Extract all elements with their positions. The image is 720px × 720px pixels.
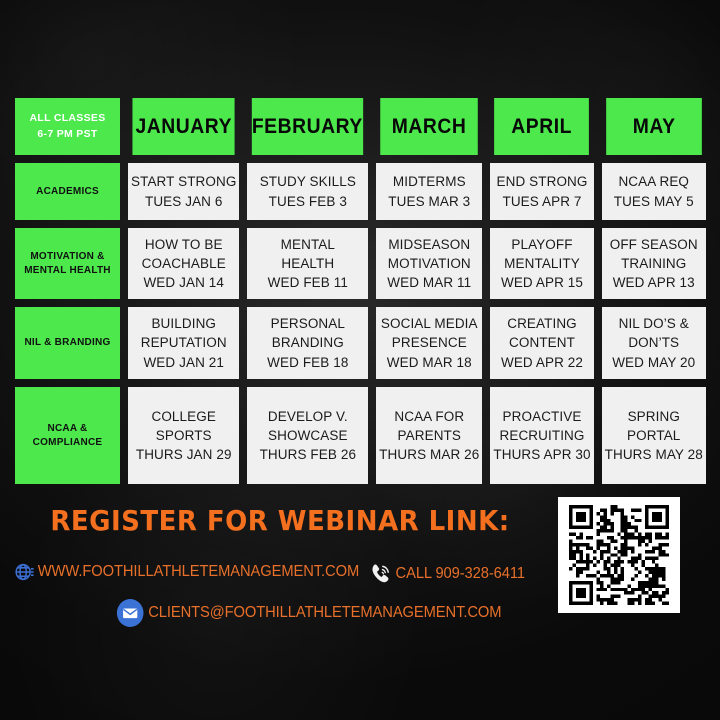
schedule-event-cell[interactable]: NIL DO’S &DON’TSWED MAY 20 [602,307,706,379]
corner-line-1: ALL CLASSES [29,111,105,127]
event-title-line: PROACTIVE [503,407,582,426]
event-date: WED APR 22 [501,353,583,372]
row-label-line: NIL & BRANDING [24,336,110,350]
envelope-icon [115,597,145,629]
schedule-event-cell[interactable]: CREATINGCONTENTWED APR 22 [490,307,593,379]
event-title-line: CREATING [507,314,577,333]
event-date: TUES FEB 3 [269,192,347,211]
row-label: NIL & BRANDING [15,307,120,379]
row-label-line: MOTIVATION & [30,250,104,264]
event-date: WED FEB 18 [267,353,348,372]
event-title-line: HOW TO BE [145,235,223,254]
event-date: WED APR 13 [613,273,695,292]
event-date: WED APR 15 [501,273,583,292]
schedule-event-cell[interactable]: SOCIAL MEDIAPRESENCEWED MAR 18 [376,307,482,379]
schedule-event-cell[interactable]: PROACTIVERECRUITINGTHURS APR 30 [490,387,593,484]
event-title-line: MOTIVATION [388,254,471,273]
event-date: WED MAR 18 [387,353,472,372]
event-date: WED JAN 21 [143,353,224,372]
event-title-line: PARENTS [398,426,461,445]
event-title-line: COLLEGE [151,407,215,426]
event-date: WED MAR 11 [387,273,471,292]
event-title-line: TRAINING [621,254,686,273]
row-label: MOTIVATION &MENTAL HEALTH [15,228,120,299]
event-title-line: PERSONAL [271,314,345,333]
row-label: ACADEMICS [15,163,120,220]
event-title-line: DEVELOP V. [268,407,348,426]
event-title-line: MENTALITY [504,254,580,273]
contact-website[interactable]: WWW.FOOTHILLATHLETEMANAGEMENT.COM [14,561,359,583]
event-title-line: RECRUITING [500,426,585,445]
poster-canvas: ALL CLASSES 6-7 PM PST JANUARY FEBRUARY … [0,0,720,720]
event-date: WED MAY 20 [612,353,695,372]
schedule-corner-header: ALL CLASSES 6-7 PM PST [15,98,120,155]
event-title-line: NIL DO’S & [619,314,689,333]
schedule-event-cell[interactable]: OFF SEASONTRAININGWED APR 13 [602,228,706,299]
month-header-march: MARCH [380,98,478,155]
website-text: WWW.FOOTHILLATHLETEMANAGEMENT.COM [38,563,359,581]
event-title-line: NCAA FOR [394,407,464,426]
event-title-line: DON’TS [628,333,679,352]
event-title-line: BRANDING [272,333,344,352]
schedule-event-cell[interactable]: NCAA REQTUES MAY 5 [602,163,706,220]
event-title-line: PORTAL [627,426,680,445]
qr-code-matrix [566,505,672,605]
event-title-line: SPORTS [156,426,212,445]
event-date: TUES APR 7 [502,192,581,211]
event-date: THURS MAR 26 [379,445,479,464]
phone-text: CALL 909-328-6411 [396,565,525,583]
event-date: WED FEB 11 [268,273,348,292]
event-date: TUES MAR 3 [388,192,470,211]
row-label-line: NCAA & [47,422,87,436]
event-title-line: PRESENCE [392,333,467,352]
schedule-event-cell[interactable]: MENTALHEALTHWED FEB 11 [247,228,368,299]
email-text: CLIENTS@FOOTHILLATHLETEMANAGEMENT.COM [148,604,501,622]
event-title-line: MIDSEASON [388,235,470,254]
event-date: WED JAN 14 [143,273,224,292]
schedule-event-cell[interactable]: DEVELOP V.SHOWCASETHURS FEB 26 [247,387,368,484]
contact-email[interactable]: CLIENTS@FOOTHILLATHLETEMANAGEMENT.COM [115,597,501,629]
event-title-line: STUDY SKILLS [260,172,356,191]
month-header-may: MAY [606,98,702,155]
month-header-january: JANUARY [132,98,235,155]
schedule-event-cell[interactable]: PERSONALBRANDINGWED FEB 18 [247,307,368,379]
event-title-line: OFF SEASON [610,235,698,254]
schedule-event-cell[interactable]: MIDTERMSTUES MAR 3 [376,163,482,220]
event-date: TUES MAY 5 [614,192,694,211]
row-label-line: ACADEMICS [36,185,99,199]
event-title-line: REPUTATION [141,333,227,352]
event-date: THURS MAY 28 [605,445,703,464]
event-date: THURS JAN 29 [136,445,232,464]
contact-phone[interactable]: CALL 909-328-6411 [368,561,525,587]
event-title-line: MENTAL [281,235,335,254]
event-title-line: END STRONG [497,172,588,191]
qr-code[interactable] [558,497,680,613]
corner-line-2: 6-7 PM PST [37,127,97,143]
schedule-event-cell[interactable]: MIDSEASONMOTIVATIONWED MAR 11 [376,228,482,299]
event-title-line: HEALTH [281,254,334,273]
event-title-line: SOCIAL MEDIA [381,314,478,333]
schedule-event-cell[interactable]: END STRONGTUES APR 7 [490,163,593,220]
event-title-line: START STRONG [131,172,236,191]
event-title-line: MIDTERMS [393,172,466,191]
schedule-event-cell[interactable]: STUDY SKILLSTUES FEB 3 [247,163,368,220]
schedule-event-cell[interactable]: COLLEGESPORTSTHURS JAN 29 [128,387,239,484]
schedule-event-cell[interactable]: START STRONGTUES JAN 6 [128,163,239,220]
event-title-line: PLAYOFF [511,235,572,254]
schedule-event-cell[interactable]: PLAYOFFMENTALITYWED APR 15 [490,228,593,299]
month-header-february: FEBRUARY [252,98,363,155]
event-date: TUES JAN 6 [145,192,223,211]
phone-ringing-icon [368,561,393,587]
register-heading: REGISTER FOR WEBINAR LINK: [20,504,541,537]
event-title-line: NCAA REQ [618,172,689,191]
event-title-line: CONTENT [509,333,575,352]
event-title-line: COACHABLE [142,254,226,273]
event-date: THURS FEB 26 [260,445,356,464]
schedule-event-cell[interactable]: BUILDINGREPUTATIONWED JAN 21 [128,307,239,379]
globe-icon [14,561,35,583]
schedule-event-cell[interactable]: HOW TO BECOACHABLEWED JAN 14 [128,228,239,299]
schedule-grid: ALL CLASSES 6-7 PM PST JANUARY FEBRUARY … [15,98,694,484]
event-title-line: BUILDING [151,314,216,333]
schedule-event-cell[interactable]: NCAA FORPARENTSTHURS MAR 26 [376,387,482,484]
event-date: THURS APR 30 [493,445,590,464]
month-header-april: APRIL [495,98,590,155]
event-title-line: SPRING [628,407,680,426]
schedule-event-cell[interactable]: SPRINGPORTALTHURS MAY 28 [602,387,706,484]
row-label: NCAA &COMPLIANCE [15,387,120,484]
row-label-line: COMPLIANCE [33,436,103,450]
row-label-line: MENTAL HEALTH [24,264,111,278]
event-title-line: SHOWCASE [268,426,348,445]
